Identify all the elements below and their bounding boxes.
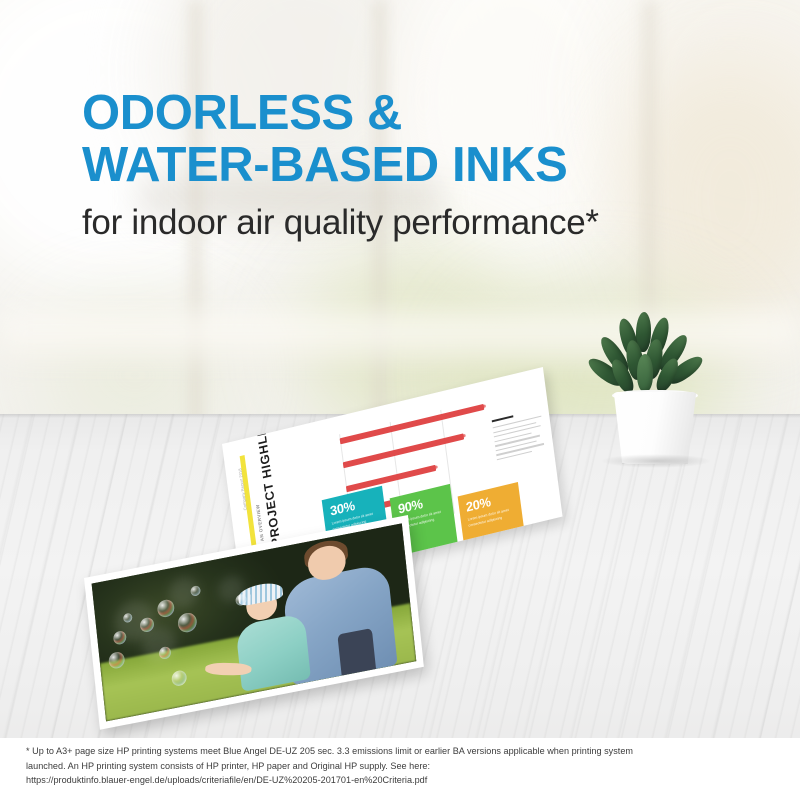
marketing-banner: ODORLESS & WATER-BASED INKS for indoor a… (0, 0, 800, 800)
pot-shadow (600, 454, 712, 468)
footnote-disclaimer: * Up to A3+ page size HP printing system… (0, 738, 800, 800)
brochure-subtitle: AN OVERVIEW (255, 504, 265, 542)
soap-bubble (177, 611, 198, 634)
page-subtitle: for indoor air quality performance* (82, 204, 772, 243)
footnote-url[interactable]: https://produktinfo.blauer-engel.de/uplo… (26, 773, 780, 788)
footnote-line-2: launched. An HP printing system consists… (26, 759, 780, 774)
succulent-plant (596, 306, 714, 458)
chart-bar (346, 465, 436, 492)
soap-bubble (190, 585, 201, 597)
soap-bubble (157, 599, 175, 619)
headline-block: ODORLESS & WATER-BASED INKS for indoor a… (82, 88, 772, 242)
soap-bubble (113, 631, 127, 646)
child-figure (235, 613, 310, 692)
footnote-line-1: * Up to A3+ page size HP printing system… (26, 744, 780, 759)
brochure-side-notes (492, 408, 548, 464)
child-arm (205, 662, 253, 676)
woman-trousers (338, 628, 376, 676)
page-title: ODORLESS & WATER-BASED INKS (82, 88, 772, 192)
